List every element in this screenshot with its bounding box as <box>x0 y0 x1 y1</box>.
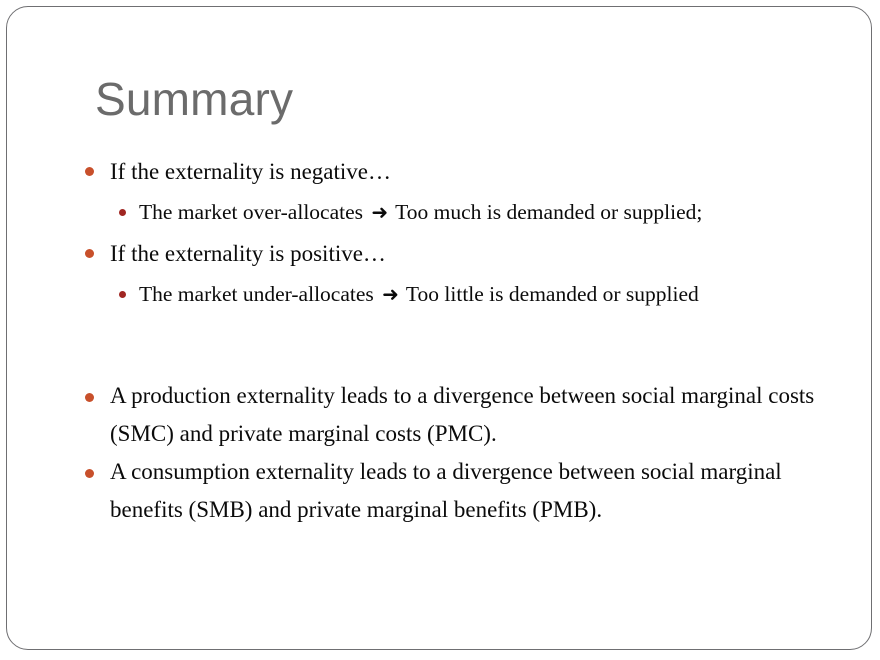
list-item-text: If the externality is positive… <box>110 233 845 274</box>
list-item-text-before-arrow: The market over-allocates <box>139 200 368 224</box>
page-title: Summary <box>95 75 293 123</box>
slide-frame: Summary If the externality is negative… … <box>6 6 872 650</box>
arrow-right-icon: ➜ <box>368 200 390 224</box>
bullet-dot-icon <box>85 393 94 402</box>
list-item-text: If the externality is negative… <box>110 151 845 192</box>
arrow-right-icon: ➜ <box>379 282 401 306</box>
list-item: A consumption externality leads to a div… <box>85 453 845 529</box>
list-item: The market over-allocates ➜ Too much is … <box>119 192 845 233</box>
list-item: If the externality is positive… <box>85 233 845 274</box>
list-item: If the externality is negative… <box>85 151 845 192</box>
bullet-dot-icon <box>85 167 94 176</box>
bullet-dot-icon <box>119 291 126 298</box>
spacer <box>85 315 845 377</box>
list-item-text-after-arrow: Too much is demanded or supplied; <box>390 200 702 224</box>
list-item-text: A production externality leads to a dive… <box>110 377 845 453</box>
list-item-text: The market over-allocates ➜ Too much is … <box>139 192 845 233</box>
bullet-dot-icon <box>85 469 94 478</box>
list-item-text: A consumption externality leads to a div… <box>110 453 845 529</box>
list-item: The market under-allocates ➜ Too little … <box>119 274 845 315</box>
bullet-dot-icon <box>85 249 94 258</box>
list-item-text: The market under-allocates ➜ Too little … <box>139 274 845 315</box>
slide-body: If the externality is negative… The mark… <box>85 151 845 529</box>
list-item: A production externality leads to a dive… <box>85 377 845 453</box>
list-item-text-after-arrow: Too little is demanded or supplied <box>401 282 699 306</box>
list-item-text-before-arrow: The market under-allocates <box>139 282 379 306</box>
bullet-dot-icon <box>119 209 126 216</box>
